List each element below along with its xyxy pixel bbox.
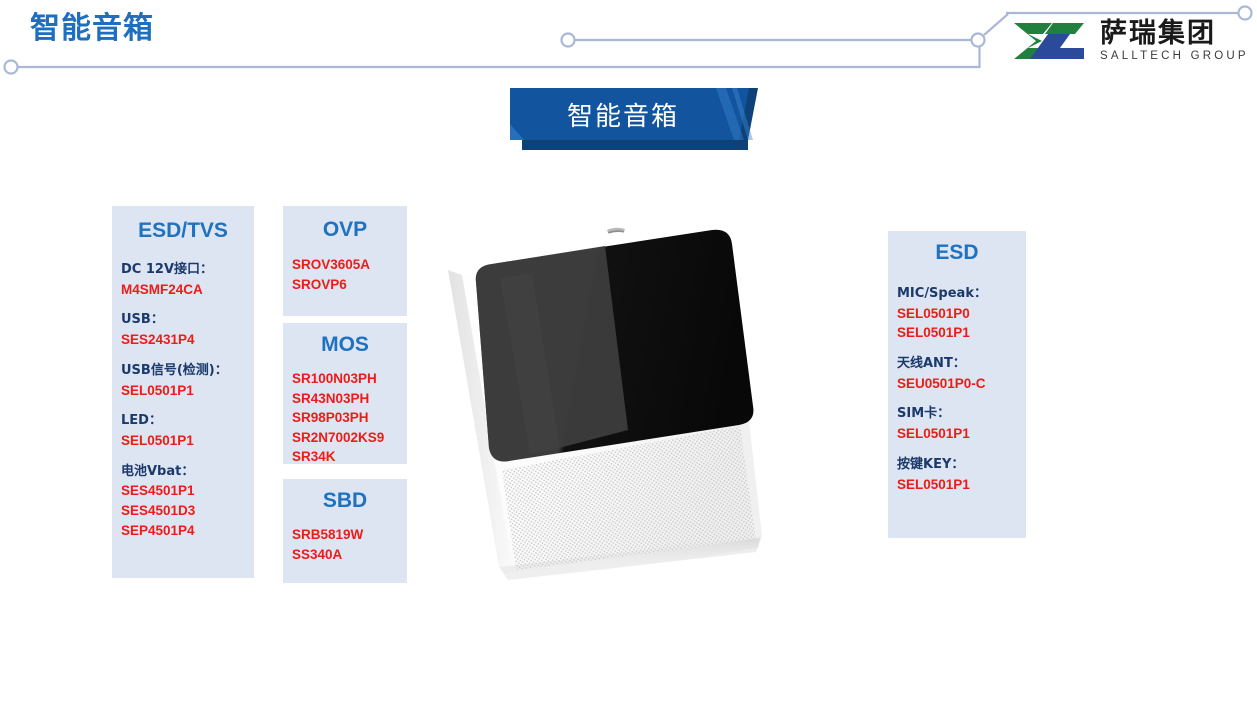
entry-part: SEL0501P1 xyxy=(897,323,1026,343)
info-box-mos: MOS SR100N03PH SR43N03PH SR98P03PH SR2N7… xyxy=(283,323,407,464)
info-box-ovp: OVP SROV3605A SROVP6 xyxy=(283,206,407,316)
entry-label: 按键KEY： xyxy=(897,456,1026,475)
entry-part: SR98P03PH xyxy=(292,408,407,428)
entry: SR100N03PH SR43N03PH SR98P03PH SR2N7002K… xyxy=(292,369,407,467)
entry: USB： SES2431P4 xyxy=(121,311,254,349)
box-entries: SRB5819W SS340A xyxy=(283,525,407,564)
entry: SRB5819W SS340A xyxy=(292,525,407,564)
box-entries: SR100N03PH SR43N03PH SR98P03PH SR2N7002K… xyxy=(283,369,407,467)
info-box-esdtvs: ESD/TVS DC 12V接口： M4SMF24CA USB： SES2431… xyxy=(112,206,254,578)
banner-title: 智能音箱 xyxy=(510,88,736,140)
entry-part: SS340A xyxy=(292,545,407,565)
page-title: 智能音箱 xyxy=(30,14,154,44)
page-header: 智能音箱 萨瑞集团 SALLTECH GROUP xyxy=(0,0,1257,88)
box-title: SBD xyxy=(283,490,407,511)
entry-part: SEL0501P1 xyxy=(121,381,254,401)
box-entries: DC 12V接口： M4SMF24CA USB： SES2431P4 USB信号… xyxy=(112,261,254,540)
entry: 电池Vbat： SES4501P1 SES4501D3 SEP4501P4 xyxy=(121,463,254,541)
entry-label: 天线ANT： xyxy=(897,355,1026,374)
box-title: ESD/TVS xyxy=(112,220,254,241)
entry: 按键KEY： SEL0501P1 xyxy=(897,456,1026,494)
logo-name-en: SALLTECH GROUP xyxy=(1100,51,1249,63)
smart-speaker-device xyxy=(440,218,785,590)
logo-name-cn: 萨瑞集团 xyxy=(1100,20,1249,47)
box-entries: MIC/Speak： SEL0501P0 SEL0501P1 天线ANT： SE… xyxy=(888,285,1026,494)
entry-part: SROVP6 xyxy=(292,275,407,295)
entry-part: SEL0501P1 xyxy=(897,424,1026,444)
salltech-logo-mark xyxy=(1012,18,1090,64)
entry-label: LED： xyxy=(121,412,254,431)
entry-part: SEL0501P0 xyxy=(897,304,1026,324)
entry: SROV3605A SROVP6 xyxy=(292,255,407,294)
entry-part: SROV3605A xyxy=(292,255,407,275)
entry-part: M4SMF24CA xyxy=(121,280,254,300)
entry: SIM卡： SEL0501P1 xyxy=(897,405,1026,443)
entry-label: MIC/Speak： xyxy=(897,285,1026,304)
box-title: MOS xyxy=(283,334,407,355)
entry: USB信号(检测)： SEL0501P1 xyxy=(121,362,254,400)
brand-logo: 萨瑞集团 SALLTECH GROUP xyxy=(1012,18,1249,64)
entry-label: USB信号(检测)： xyxy=(121,362,254,381)
entry-label: USB： xyxy=(121,311,254,330)
entry-part: SR34K xyxy=(292,447,407,467)
entry-label: 电池Vbat： xyxy=(121,463,254,482)
entry: LED： SEL0501P1 xyxy=(121,412,254,450)
entry: 天线ANT： SEU0501P0-C xyxy=(897,355,1026,393)
entry-label: SIM卡： xyxy=(897,405,1026,424)
entry-part: SES4501P1 xyxy=(121,481,254,501)
box-entries: SROV3605A SROVP6 xyxy=(283,255,407,294)
box-title: ESD xyxy=(888,242,1026,263)
entry-part: SRB5819W xyxy=(292,525,407,545)
entry: MIC/Speak： SEL0501P0 SEL0501P1 xyxy=(897,285,1026,343)
entry-part: SEL0501P1 xyxy=(121,431,254,451)
entry: DC 12V接口： M4SMF24CA xyxy=(121,261,254,299)
section-banner: 智能音箱 xyxy=(510,88,758,158)
logo-wordmark: 萨瑞集团 SALLTECH GROUP xyxy=(1100,20,1249,63)
info-box-sbd: SBD SRB5819W SS340A xyxy=(283,479,407,583)
entry-part: SEL0501P1 xyxy=(897,475,1026,495)
entry-part: SEU0501P0-C xyxy=(897,374,1026,394)
info-box-esd: ESD MIC/Speak： SEL0501P0 SEL0501P1 天线ANT… xyxy=(888,231,1026,538)
box-title: OVP xyxy=(283,219,407,240)
entry-part: SR43N03PH xyxy=(292,389,407,409)
entry-part: SES2431P4 xyxy=(121,330,254,350)
entry-part: SEP4501P4 xyxy=(121,521,254,541)
entry-part: SES4501D3 xyxy=(121,501,254,521)
entry-part: SR2N7002KS9 xyxy=(292,428,407,448)
entry-label: DC 12V接口： xyxy=(121,261,254,280)
entry-part: SR100N03PH xyxy=(292,369,407,389)
